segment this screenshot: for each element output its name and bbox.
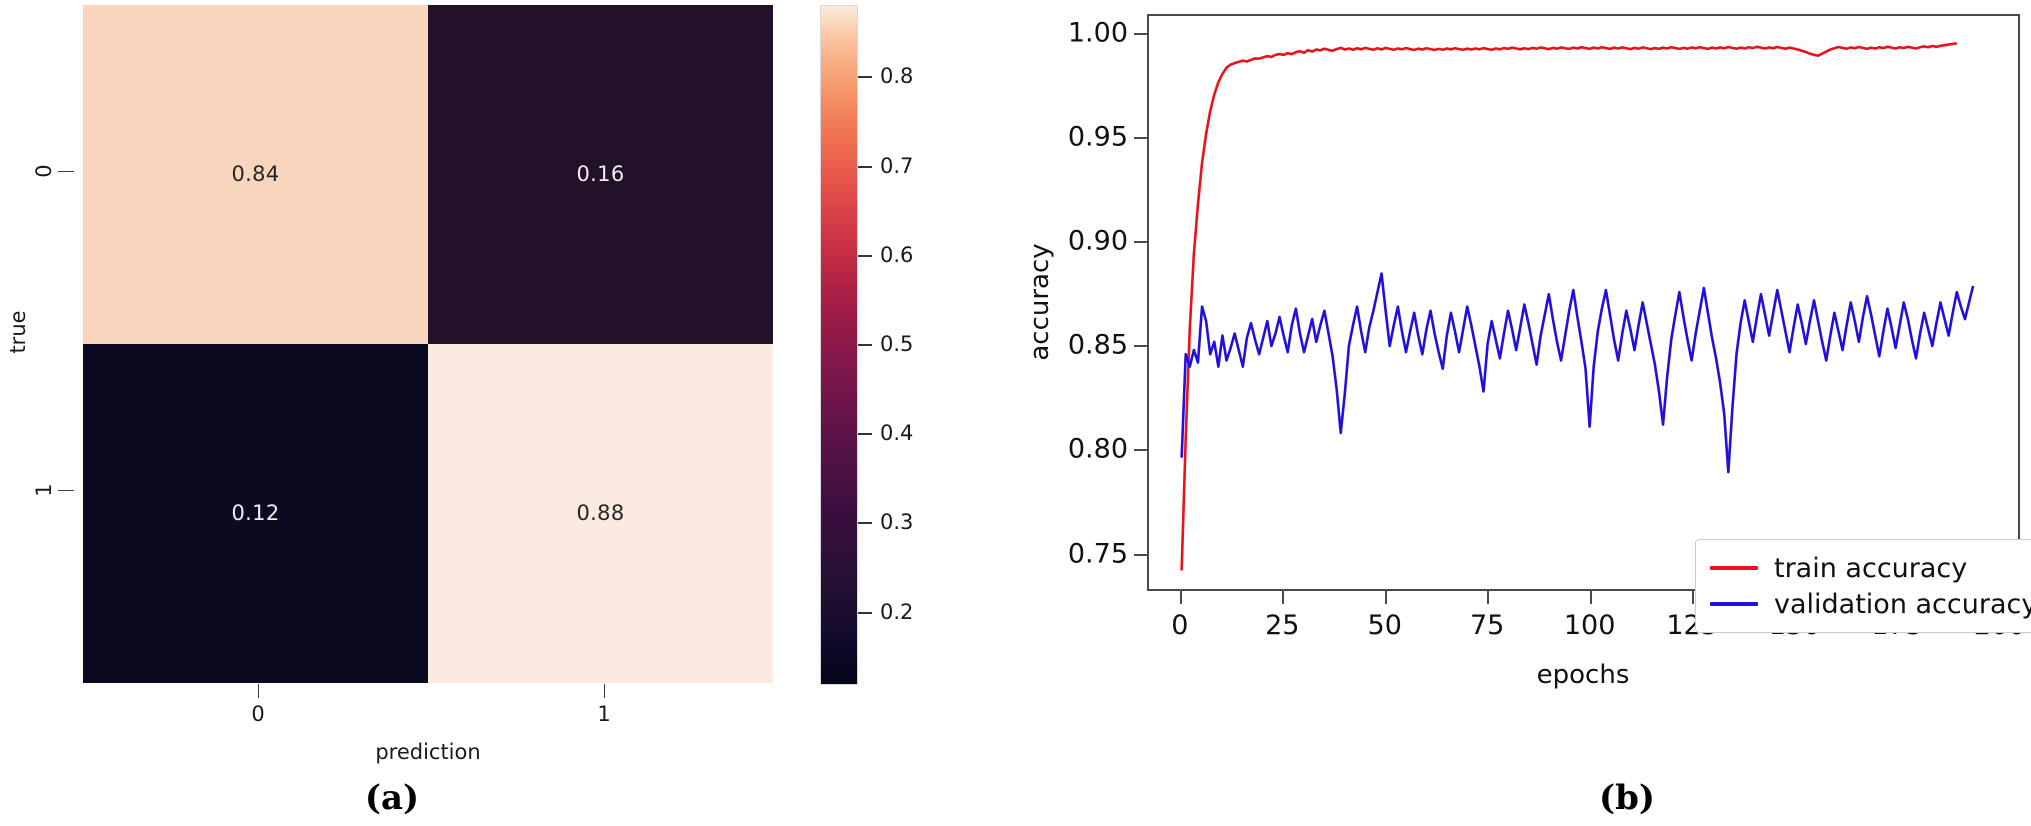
heatmap-colorbar [820,5,858,685]
legend-swatch-validation [1710,602,1758,606]
panel-b-accuracy-chart: 0.750.800.850.900.951.00 025507510012515… [1000,0,2031,826]
line-chart-xtick-1 [1282,591,1284,604]
line-chart-yaxis-title: accuracy [1025,243,1055,360]
colorbar-label-6: 0.2 [880,600,913,624]
line-series-1 [1182,274,1973,473]
line-chart-xaxis-title: epochs [1537,660,1630,690]
heatmap-xlabel-0: 0 [251,702,264,726]
colorbar-tick-2 [858,255,872,257]
heatmap-grid: 0.840.160.120.88 [83,5,773,683]
line-chart-ytick-0 [1134,554,1147,556]
heatmap-cell-value: 0.84 [232,164,280,185]
colorbar-label-0: 0.8 [880,64,913,88]
line-chart-ylabel-5: 1.00 [1000,17,1128,48]
caption-a: (a) [365,778,419,818]
line-chart-xtick-3 [1487,591,1489,604]
colorbar-label-3: 0.5 [880,332,913,356]
line-chart-ylabel-0: 0.75 [1000,538,1128,569]
colorbar-tick-1 [858,166,872,168]
line-chart-xlabel-1: 25 [1265,610,1299,641]
line-chart-xlabel-3: 75 [1470,610,1504,641]
heatmap-ylabel-1: 1 [32,483,56,496]
colorbar-tick-0 [858,76,872,78]
heatmap-xaxis-title: prediction [375,740,480,764]
line-chart-ytick-4 [1134,137,1147,139]
heatmap-cell-r1-c0: 0.12 [83,344,428,683]
heatmap-ytick-1 [58,490,74,491]
legend-label-validation: validation accuracy [1774,589,2031,620]
line-chart-ylabel-4: 0.95 [1000,121,1128,152]
heatmap-cell-r1-c1: 0.88 [428,344,773,683]
legend-swatch-train [1710,566,1758,570]
line-chart-xtick-4 [1590,591,1592,604]
figure-root: 0.840.160.120.88 0 1 0 1 prediction true… [0,0,2031,826]
line-chart-xtick-5 [1692,591,1694,604]
line-chart-ytick-3 [1134,241,1147,243]
line-chart-plot-area [1149,16,2018,589]
panel-a-confusion-matrix: 0.840.160.120.88 0 1 0 1 prediction true… [0,0,1000,826]
colorbar-tick-6 [858,612,872,614]
line-chart-xlabel-2: 50 [1368,610,1402,641]
colorbar-label-2: 0.6 [880,243,913,267]
heatmap-xlabel-1: 1 [597,702,610,726]
heatmap-cell-value: 0.12 [232,503,280,524]
colorbar-label-5: 0.3 [880,510,913,534]
heatmap-cell-r0-c1: 0.16 [428,5,773,344]
colorbar-tick-4 [858,433,872,435]
line-chart-xtick-2 [1385,591,1387,604]
colorbar-tick-3 [858,344,872,346]
line-chart-ytick-5 [1134,33,1147,35]
heatmap-xtick-1 [604,684,605,698]
line-chart-xtick-0 [1180,591,1182,604]
line-chart-ytick-2 [1134,345,1147,347]
heatmap-yaxis-title: true [6,310,30,353]
line-chart-ytick-1 [1134,449,1147,451]
legend-label-train: train accuracy [1774,553,1967,584]
colorbar-label-4: 0.4 [880,421,913,445]
line-chart-ylabel-2: 0.85 [1000,330,1128,361]
heatmap-cell-value: 0.16 [577,164,625,185]
heatmap-ytick-0 [58,171,74,172]
heatmap-xtick-0 [258,684,259,698]
colorbar-tick-5 [858,522,872,524]
line-chart-ylabel-3: 0.90 [1000,226,1128,257]
caption-b: (b) [1599,778,1655,818]
line-chart-legend[interactable]: train accuracy validation accuracy [1695,539,2031,633]
line-chart-xlabel-0: 0 [1171,610,1188,641]
heatmap-ylabel-0: 0 [32,164,56,177]
legend-item-train[interactable]: train accuracy [1710,550,2031,586]
legend-item-validation[interactable]: validation accuracy [1710,586,2031,622]
line-chart-xlabel-4: 100 [1564,610,1616,641]
heatmap-cell-value: 0.88 [577,503,625,524]
line-chart-ylabel-1: 0.80 [1000,434,1128,465]
line-chart-axes [1147,14,2020,591]
heatmap-cell-r0-c0: 0.84 [83,5,428,344]
colorbar-label-1: 0.7 [880,154,913,178]
